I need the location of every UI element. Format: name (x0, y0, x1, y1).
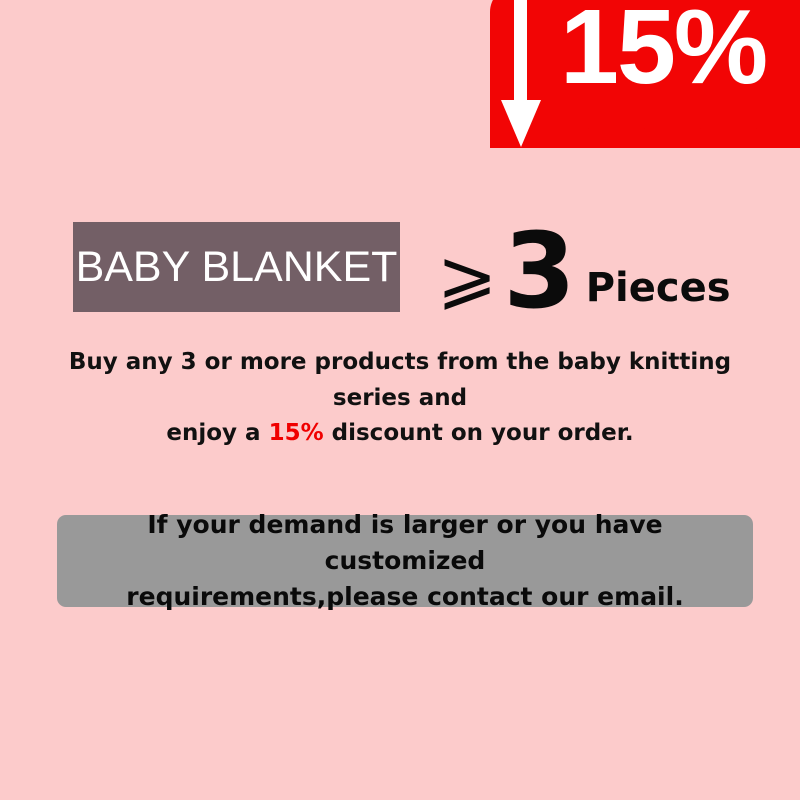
arrow-head (501, 100, 541, 147)
minimum-quantity: ⩾ 3 Pieces (437, 222, 731, 314)
offer-description-line-2-suffix: discount on your order. (324, 420, 634, 446)
discount-ribbon: 15% (490, 0, 800, 168)
arrow-shaft (514, 0, 527, 108)
offer-description: Buy any 3 or more products from the baby… (60, 345, 740, 452)
arrow-down-icon (494, 0, 548, 150)
contact-notice: If your demand is larger or you have cus… (57, 515, 753, 607)
contact-notice-line-2: requirements,please contact our email. (126, 582, 683, 611)
offer-discount-highlight: 15% (269, 420, 324, 446)
minimum-quantity-unit: Pieces (586, 268, 731, 308)
category-chip-label: BABY BLANKET (76, 246, 398, 289)
minimum-quantity-number: 3 (503, 229, 573, 314)
promotional-banner: 15% BABY BLANKET ⩾ 3 Pieces Buy any 3 or… (0, 0, 800, 800)
offer-description-line-2-prefix: enjoy a (166, 420, 268, 446)
contact-notice-text: If your demand is larger or you have cus… (80, 507, 730, 616)
offer-description-line-1: Buy any 3 or more products from the baby… (69, 349, 731, 411)
discount-value: 15% (560, 0, 766, 100)
greater-or-equal-icon: ⩾ (437, 242, 497, 310)
category-chip: BABY BLANKET (73, 222, 400, 312)
contact-notice-line-1: If your demand is larger or you have cus… (147, 510, 662, 575)
